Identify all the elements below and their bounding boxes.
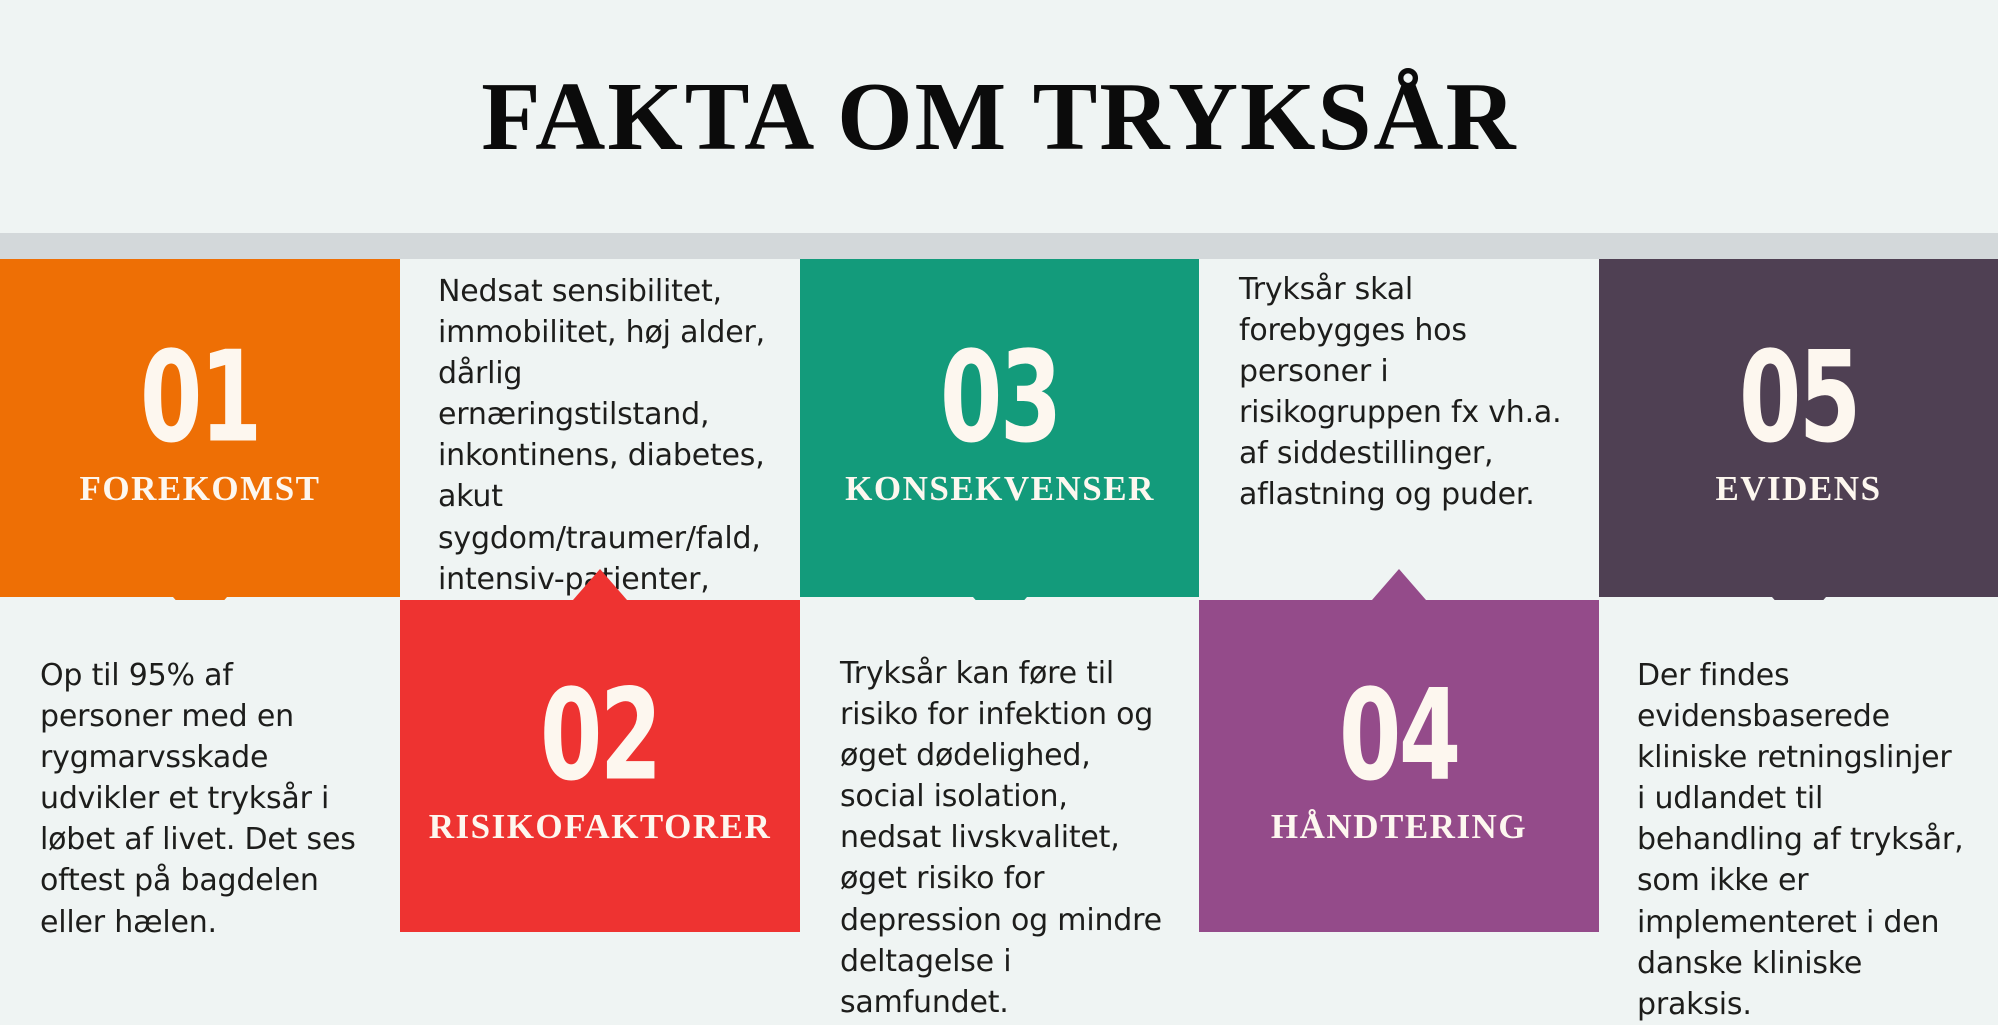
text-panel-03: Tryksår kan føre til risiko for infektio… bbox=[800, 600, 1200, 932]
column-02: Nedsat sensibilitet, immobilitet, høj al… bbox=[400, 259, 800, 932]
column-05-text-cell: Der findes evidensbaserede kliniske retn… bbox=[1599, 600, 1998, 932]
text-panel-04: Tryksår skal forebygges hos personer i r… bbox=[1199, 259, 1599, 597]
text-panel-02: Nedsat sensibilitet, immobilitet, høj al… bbox=[400, 259, 800, 597]
column-04-number-cell: 04 HÅNDTERING bbox=[1199, 600, 1599, 932]
column-03-number-cell: 03 KONSEKVENSER bbox=[800, 259, 1200, 597]
header-banner: FAKTA OM TRYKSÅR bbox=[0, 0, 1998, 233]
body-text-01: Op til 95% af personer med en rygmarvssk… bbox=[40, 655, 368, 943]
number-panel-01[interactable]: 01 FOREKOMST bbox=[0, 259, 400, 597]
number-label-02: 02 bbox=[540, 679, 660, 794]
number-label-01: 01 bbox=[140, 341, 260, 456]
header-divider bbox=[0, 233, 1998, 259]
column-01-number-cell: 01 FOREKOMST bbox=[0, 259, 400, 597]
column-05: 05 EVIDENS Der findes evidensbaserede kl… bbox=[1599, 259, 1998, 932]
columns-grid: 01 FOREKOMST Op til 95% af personer med … bbox=[0, 259, 1998, 932]
number-panel-05[interactable]: 05 EVIDENS bbox=[1599, 259, 1998, 597]
column-02-text-cell: Nedsat sensibilitet, immobilitet, høj al… bbox=[400, 259, 800, 597]
category-label-03: KONSEKVENSER bbox=[845, 469, 1155, 509]
column-01: 01 FOREKOMST Op til 95% af personer med … bbox=[0, 259, 400, 932]
number-label-05: 05 bbox=[1739, 341, 1859, 456]
body-text-04: Tryksår skal forebygges hos personer i r… bbox=[1239, 269, 1569, 516]
page-title: FAKTA OM TRYKSÅR bbox=[481, 68, 1517, 166]
category-label-02: RISIKOFAKTORER bbox=[429, 807, 772, 847]
text-panel-05: Der findes evidensbaserede kliniske retn… bbox=[1599, 600, 1998, 932]
pointer-triangle-up-icon-04 bbox=[1372, 569, 1426, 600]
column-01-text-cell: Op til 95% af personer med en rygmarvssk… bbox=[0, 600, 400, 932]
number-panel-04[interactable]: 04 HÅNDTERING bbox=[1199, 600, 1599, 932]
column-03: 03 KONSEKVENSER Tryksår kan føre til ris… bbox=[800, 259, 1200, 932]
number-label-03: 03 bbox=[940, 341, 1060, 456]
body-text-03: Tryksår kan føre til risiko for infektio… bbox=[840, 653, 1172, 1023]
number-label-04: 04 bbox=[1339, 679, 1459, 794]
column-03-text-cell: Tryksår kan føre til risiko for infektio… bbox=[800, 600, 1200, 932]
category-label-05: EVIDENS bbox=[1715, 469, 1881, 509]
column-04: Tryksår skal forebygges hos personer i r… bbox=[1199, 259, 1599, 932]
body-text-05: Der findes evidensbaserede kliniske retn… bbox=[1637, 655, 1968, 1025]
infographic-page: FAKTA OM TRYKSÅR 01 FOREKOMST Op til 95%… bbox=[0, 0, 1998, 932]
column-02-number-cell: 02 RISIKOFAKTORER bbox=[400, 600, 800, 932]
column-05-number-cell: 05 EVIDENS bbox=[1599, 259, 1998, 597]
pointer-triangle-up-icon-02 bbox=[573, 569, 627, 600]
number-panel-03[interactable]: 03 KONSEKVENSER bbox=[800, 259, 1200, 597]
category-label-01: FOREKOMST bbox=[79, 469, 320, 509]
number-panel-02[interactable]: 02 RISIKOFAKTORER bbox=[400, 600, 800, 932]
column-04-text-cell: Tryksår skal forebygges hos personer i r… bbox=[1199, 259, 1599, 597]
text-panel-01: Op til 95% af personer med en rygmarvssk… bbox=[0, 600, 400, 932]
category-label-04: HÅNDTERING bbox=[1271, 807, 1527, 847]
